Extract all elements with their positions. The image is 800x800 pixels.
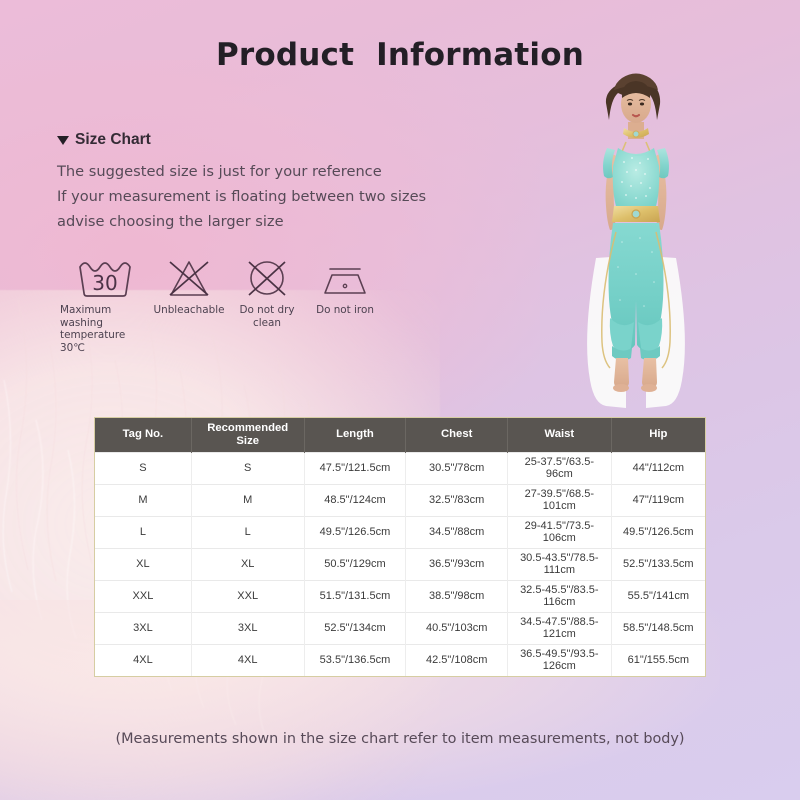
cell-waist: 29-41.5"/73.5-106cm: [508, 516, 612, 548]
cell-tag-no: 3XL: [95, 612, 191, 644]
size-table-head: Tag No. Recommended Size Length Chest Wa…: [95, 418, 705, 452]
cell-waist: 27-39.5"/68.5-101cm: [508, 484, 612, 516]
wash-tub-30-icon: 30: [74, 256, 136, 300]
cell-recommended-size: M: [191, 484, 304, 516]
wash-temp-value: 30: [92, 271, 117, 295]
column-header-waist: Waist: [508, 418, 612, 452]
table-row: 3XL 3XL 52.5"/134cm 40.5"/103cm 34.5-47.…: [95, 612, 705, 644]
cell-hip: 47"/119cm: [611, 484, 705, 516]
model-in-teal-genie-costume-photo: [548, 62, 724, 414]
cell-length: 47.5"/121.5cm: [304, 452, 406, 484]
triangle-down-icon[interactable]: [57, 136, 69, 145]
column-header-tag-no: Tag No.: [95, 418, 191, 452]
table-row: M M 48.5"/124cm 32.5"/83cm 27-39.5"/68.5…: [95, 484, 705, 516]
cell-chest: 30.5"/78cm: [406, 452, 508, 484]
cell-hip: 52.5"/133.5cm: [611, 548, 705, 580]
cell-hip: 49.5"/126.5cm: [611, 516, 705, 548]
size-table: Tag No. Recommended Size Length Chest Wa…: [95, 418, 705, 676]
cell-chest: 36.5"/93cm: [406, 548, 508, 580]
size-chart-section: Size Chart The suggested size is just fo…: [57, 131, 487, 234]
care-symbol-unbleachable: Unbleachable: [150, 256, 228, 317]
cell-length: 49.5"/126.5cm: [304, 516, 406, 548]
product-information-page: Product Information Size Chart The sugge…: [0, 0, 800, 800]
cell-tag-no: S: [95, 452, 191, 484]
cell-recommended-size: XL: [191, 548, 304, 580]
care-symbol-max-wash-temp: 30 Maximum washing temperature 30℃: [60, 256, 150, 354]
cell-waist: 36.5-49.5"/93.5-126cm: [508, 644, 612, 676]
care-symbol-label: Do not dry clean: [228, 304, 306, 329]
table-header-row: Tag No. Recommended Size Length Chest Wa…: [95, 418, 705, 452]
cell-length: 48.5"/124cm: [304, 484, 406, 516]
size-chart-note-line: The suggested size is just for your refe…: [57, 159, 487, 184]
cell-length: 53.5"/136.5cm: [304, 644, 406, 676]
measurement-disclaimer: (Measurements shown in the size chart re…: [0, 731, 800, 747]
care-symbol-no-iron: Do not iron: [306, 256, 384, 317]
cell-chest: 34.5"/88cm: [406, 516, 508, 548]
no-dry-clean-circle-icon: [239, 256, 295, 300]
size-table-container: Tag No. Recommended Size Length Chest Wa…: [94, 417, 706, 677]
no-iron-icon: [316, 256, 374, 300]
size-chart-notes: The suggested size is just for your refe…: [57, 159, 487, 234]
size-chart-note-line: If your measurement is floating between …: [57, 184, 487, 209]
table-row: 4XL 4XL 53.5"/136.5cm 42.5"/108cm 36.5-4…: [95, 644, 705, 676]
care-symbol-label: Maximum washing temperature 30℃: [60, 304, 150, 354]
cell-tag-no: XXL: [95, 580, 191, 612]
cell-hip: 55.5"/141cm: [611, 580, 705, 612]
cell-length: 50.5"/129cm: [304, 548, 406, 580]
cell-recommended-size: 4XL: [191, 644, 304, 676]
column-header-recommended-size: Recommended Size: [191, 418, 304, 452]
column-header-chest: Chest: [406, 418, 508, 452]
cell-length: 52.5"/134cm: [304, 612, 406, 644]
care-symbols-row: 30 Maximum washing temperature 30℃ Unble…: [60, 256, 384, 354]
cell-chest: 42.5"/108cm: [406, 644, 508, 676]
care-symbol-label: Do not iron: [316, 304, 374, 317]
table-row: S S 47.5"/121.5cm 30.5"/78cm 25-37.5"/63…: [95, 452, 705, 484]
size-chart-heading[interactable]: Size Chart: [57, 131, 487, 149]
size-table-body: S S 47.5"/121.5cm 30.5"/78cm 25-37.5"/63…: [95, 452, 705, 676]
column-header-length: Length: [304, 418, 406, 452]
no-bleach-triangle-icon: [161, 256, 217, 300]
cell-chest: 40.5"/103cm: [406, 612, 508, 644]
cell-recommended-size: L: [191, 516, 304, 548]
table-row: XXL XXL 51.5"/131.5cm 38.5"/98cm 32.5-45…: [95, 580, 705, 612]
table-row: L L 49.5"/126.5cm 34.5"/88cm 29-41.5"/73…: [95, 516, 705, 548]
care-symbol-label: Unbleachable: [154, 304, 225, 317]
table-row: XL XL 50.5"/129cm 36.5"/93cm 30.5-43.5"/…: [95, 548, 705, 580]
cell-waist: 30.5-43.5"/78.5-111cm: [508, 548, 612, 580]
cell-tag-no: XL: [95, 548, 191, 580]
size-chart-heading-label: Size Chart: [75, 131, 151, 149]
cell-tag-no: M: [95, 484, 191, 516]
cell-recommended-size: 3XL: [191, 612, 304, 644]
cell-hip: 61"/155.5cm: [611, 644, 705, 676]
cell-waist: 32.5-45.5"/83.5-116cm: [508, 580, 612, 612]
cell-chest: 32.5"/83cm: [406, 484, 508, 516]
cell-tag-no: 4XL: [95, 644, 191, 676]
cell-waist: 34.5-47.5"/88.5-121cm: [508, 612, 612, 644]
cell-recommended-size: S: [191, 452, 304, 484]
cell-hip: 44"/112cm: [611, 452, 705, 484]
size-chart-note-line: advise choosing the larger size: [57, 209, 487, 234]
cell-length: 51.5"/131.5cm: [304, 580, 406, 612]
column-header-hip: Hip: [611, 418, 705, 452]
cell-tag-no: L: [95, 516, 191, 548]
cell-hip: 58.5"/148.5cm: [611, 612, 705, 644]
cell-waist: 25-37.5"/63.5-96cm: [508, 452, 612, 484]
cell-recommended-size: XXL: [191, 580, 304, 612]
care-symbol-no-dry-clean: Do not dry clean: [228, 256, 306, 329]
cell-chest: 38.5"/98cm: [406, 580, 508, 612]
